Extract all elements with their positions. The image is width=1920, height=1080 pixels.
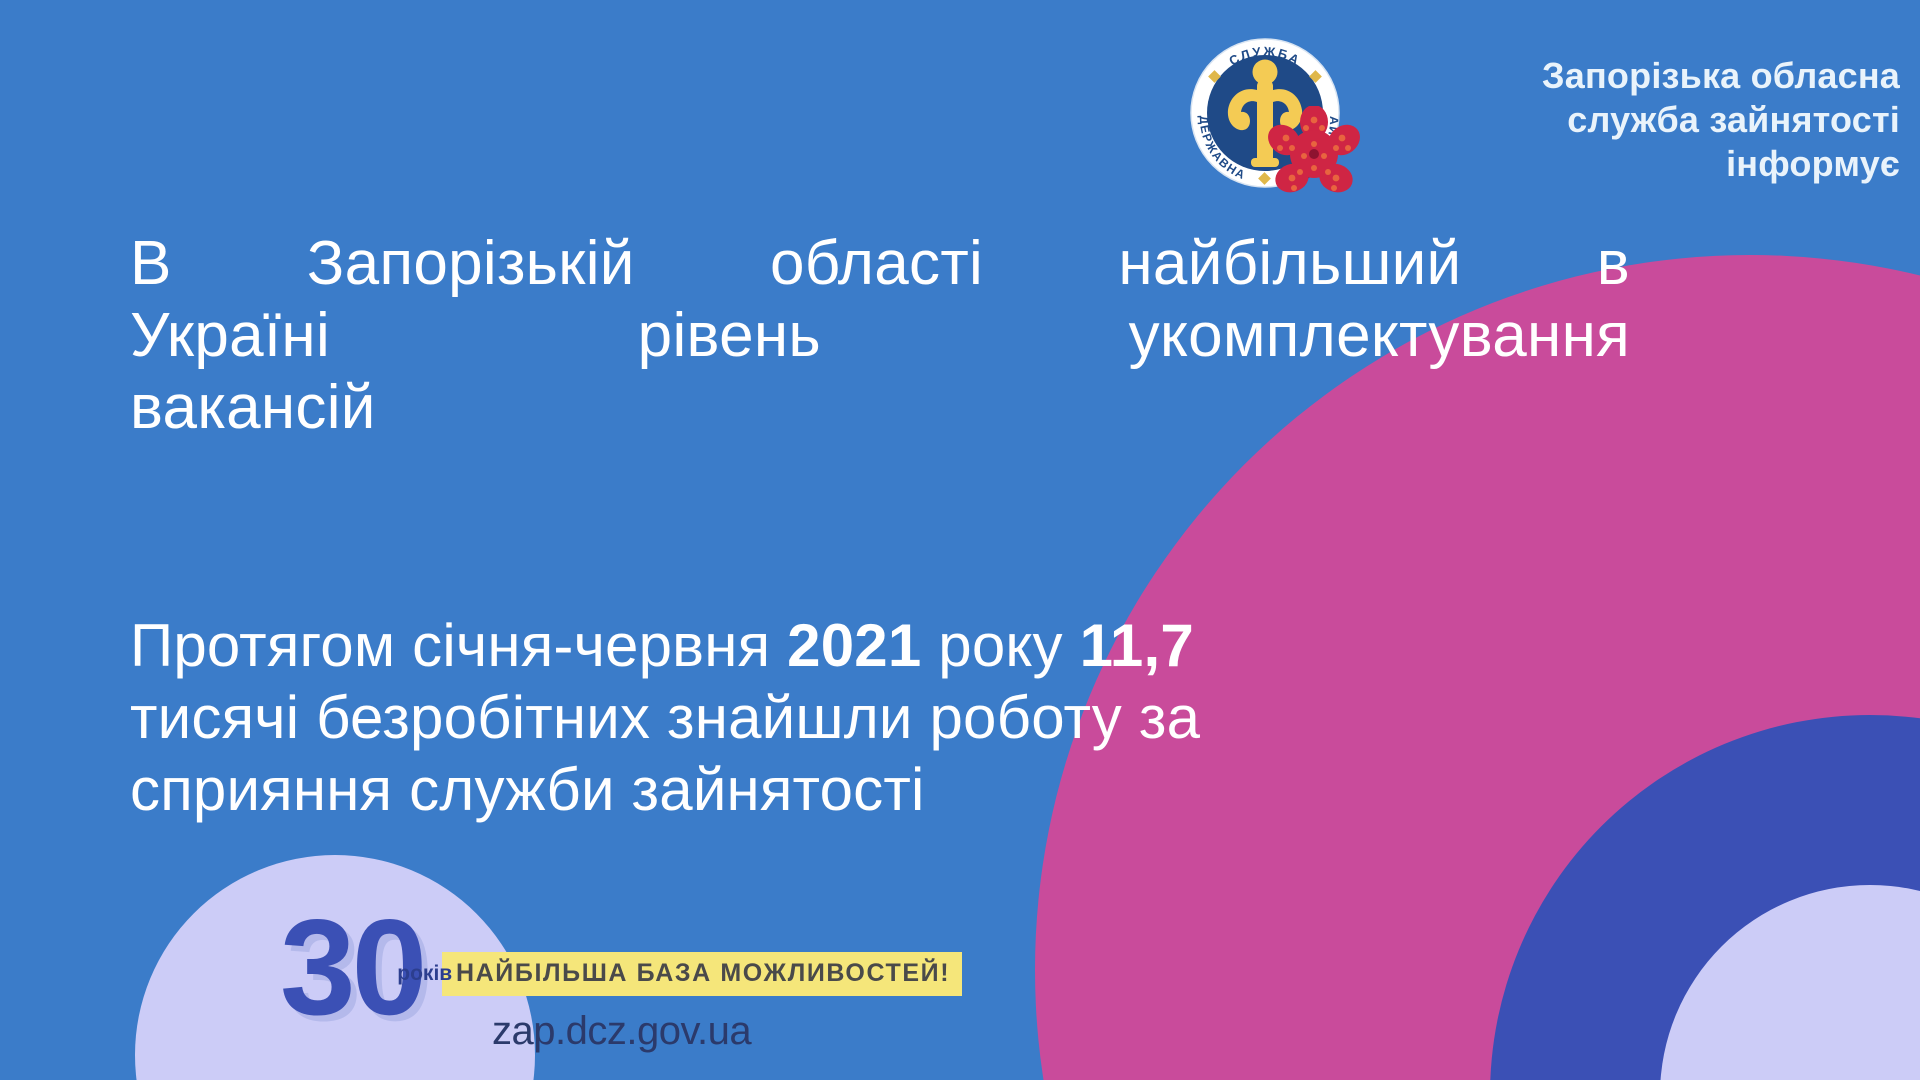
anniversary-unit-label: років	[397, 962, 452, 986]
decorative-royal-blue-circle	[1490, 715, 1920, 1080]
infographic-slide: СЛУЖБА ДЕРЖАВНА ЗАЙНЯТОСТІ	[0, 0, 1920, 1080]
highlight-year: 2021	[787, 612, 921, 679]
body-text-segment-1: Протягом січня-червня	[130, 612, 787, 679]
highlight-figure: 11,7	[1080, 612, 1194, 679]
body-line-1: Протягом січня-червня 2021 року 11,7	[130, 610, 1500, 682]
body-paragraph: Протягом січня-червня 2021 року 11,7 тис…	[130, 610, 1500, 826]
website-url[interactable]: zap.dcz.gov.ua	[492, 1009, 751, 1054]
organization-name: Запорізька обласна служба зайнятості інф…	[1380, 54, 1900, 186]
header: СЛУЖБА ДЕРЖАВНА ЗАЙНЯТОСТІ	[1180, 22, 1900, 202]
body-line-2: тисячі безробітних знайшли роботу за	[130, 682, 1500, 754]
org-line-3: інформує	[1380, 142, 1900, 186]
state-employment-service-logo-icon: СЛУЖБА ДЕРЖАВНА ЗАЙНЯТОСТІ	[1180, 28, 1350, 198]
headline-line-1: В Запорізькій області найбільший в	[130, 228, 1630, 300]
anniversary-logo: 30 років	[280, 905, 452, 1030]
slogan-badge: НАЙБІЛЬША БАЗА МОЖЛИВОСТЕЙ!	[442, 952, 962, 996]
headline-line-2: Україні рівень укомплектування	[130, 300, 1630, 372]
headline-line-3: вакансій	[130, 372, 1630, 444]
page-title: В Запорізькій області найбільший в Украї…	[130, 228, 1630, 444]
footer-branding: 30 років НАЙБІЛЬША БАЗА МОЖЛИВОСТЕЙ! zap…	[180, 905, 980, 1080]
body-text-segment-2: року	[921, 612, 1079, 679]
viburnum-flower-icon	[1266, 106, 1362, 202]
decorative-lavender-circle	[1660, 885, 1920, 1080]
org-line-1: Запорізька обласна	[1380, 54, 1900, 98]
org-line-2: служба зайнятості	[1380, 98, 1900, 142]
body-line-3: сприяння служби зайнятості	[130, 754, 1500, 826]
